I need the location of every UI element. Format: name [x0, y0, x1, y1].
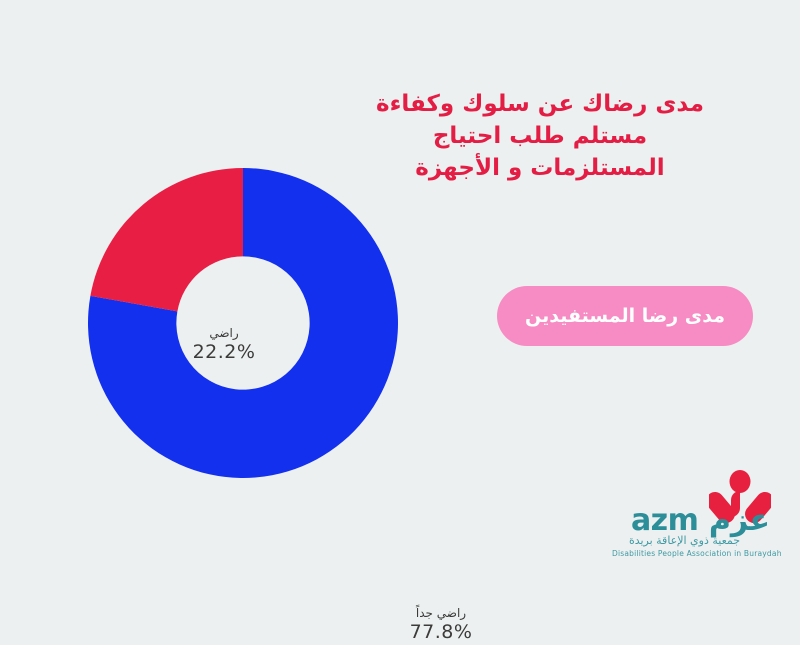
- page-title: مدى رضاك عن سلوك وكفاءة مستلم طلب احتياج…: [375, 88, 705, 184]
- logo-wordmark-text: عزم azm: [631, 503, 770, 538]
- donut-slice-group: [88, 168, 398, 478]
- status-badge-label: مدى رضا المستفيدين: [525, 305, 725, 327]
- logo-english-subtitle: Disabilities People Association in Buray…: [612, 549, 757, 558]
- slice-label-very-satisfied: راضي جداً 77.8%: [393, 606, 489, 645]
- title-line-2: مستلم طلب احتياج: [375, 120, 705, 152]
- status-badge[interactable]: مدى رضا المستفيدين: [497, 286, 753, 346]
- logo-arabic-subtitle: جمعية ذوي الإعاقة بريدة: [612, 534, 757, 547]
- title-line-3: المستلزمات و الأجهزة: [375, 152, 705, 184]
- donut-chart: راضي 22.2% راضي جداً 77.8%: [88, 168, 398, 478]
- slice-label-very-satisfied-category: راضي جداً: [393, 606, 489, 621]
- donut-slice[interactable]: [90, 168, 243, 311]
- donut-chart-svg: [88, 168, 398, 478]
- title-line-1: مدى رضاك عن سلوك وكفاءة: [375, 88, 705, 120]
- logo-wordmark: عزم azm: [610, 504, 770, 536]
- slice-label-very-satisfied-value: 77.8%: [393, 621, 489, 645]
- organization-logo: عزم azm جمعية ذوي الإعاقة بريدة Disabili…: [608, 470, 773, 570]
- slice-label-satisfied: راضي 22.2%: [180, 326, 268, 365]
- slice-label-satisfied-value: 22.2%: [180, 341, 268, 365]
- slice-label-satisfied-category: راضي: [180, 326, 268, 341]
- slide-canvas: مدى رضاك عن سلوك وكفاءة مستلم طلب احتياج…: [0, 0, 800, 600]
